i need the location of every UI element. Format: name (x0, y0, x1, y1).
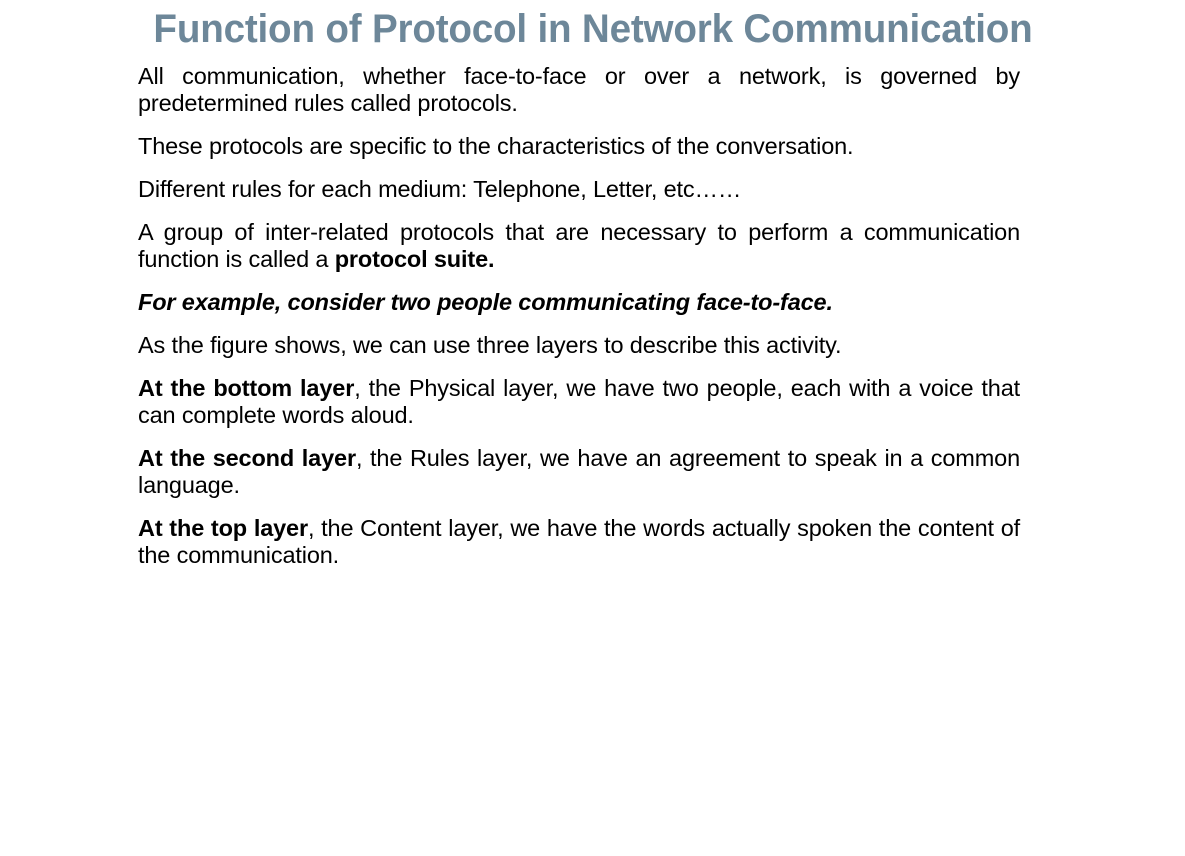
slide-body-text: All communication, whether face-to-face … (138, 63, 1020, 569)
emphasized-text: At the top layer (138, 515, 308, 541)
paragraph-p2-protocols-specific: These protocols are specific to the char… (138, 133, 1020, 160)
paragraph-p8-second-layer: At the second layer, the Rules layer, we… (138, 445, 1020, 499)
body-text: A group of inter-related protocols that … (138, 219, 1020, 272)
paragraph-p1-communication-rules: All communication, whether face-to-face … (138, 63, 1020, 117)
body-text: As the figure shows, we can use three la… (138, 332, 841, 358)
page-title: Function of Protocol in Network Communic… (153, 6, 1004, 52)
slide-canvas: Function of Protocol in Network Communic… (0, 0, 1185, 856)
body-text: Different rules for each medium: Telepho… (138, 176, 741, 202)
paragraph-p4-protocol-suite: A group of inter-related protocols that … (138, 219, 1020, 273)
emphasized-text: At the bottom layer (138, 375, 354, 401)
emphasized-text: protocol suite. (335, 246, 495, 272)
emphasized-text: At the second layer (138, 445, 356, 471)
paragraph-p9-top-layer: At the top layer, the Content layer, we … (138, 515, 1020, 569)
emphasized-text: For example, consider two people communi… (138, 289, 833, 315)
paragraph-p6-three-layers: As the figure shows, we can use three la… (138, 332, 1020, 359)
body-text: All communication, whether face-to-face … (138, 63, 1020, 116)
paragraph-p3-different-rules: Different rules for each medium: Telepho… (138, 176, 1020, 203)
body-text: These protocols are specific to the char… (138, 133, 853, 159)
paragraph-p7-bottom-layer: At the bottom layer, the Physical layer,… (138, 375, 1020, 429)
paragraph-p5-for-example: For example, consider two people communi… (138, 289, 1020, 316)
